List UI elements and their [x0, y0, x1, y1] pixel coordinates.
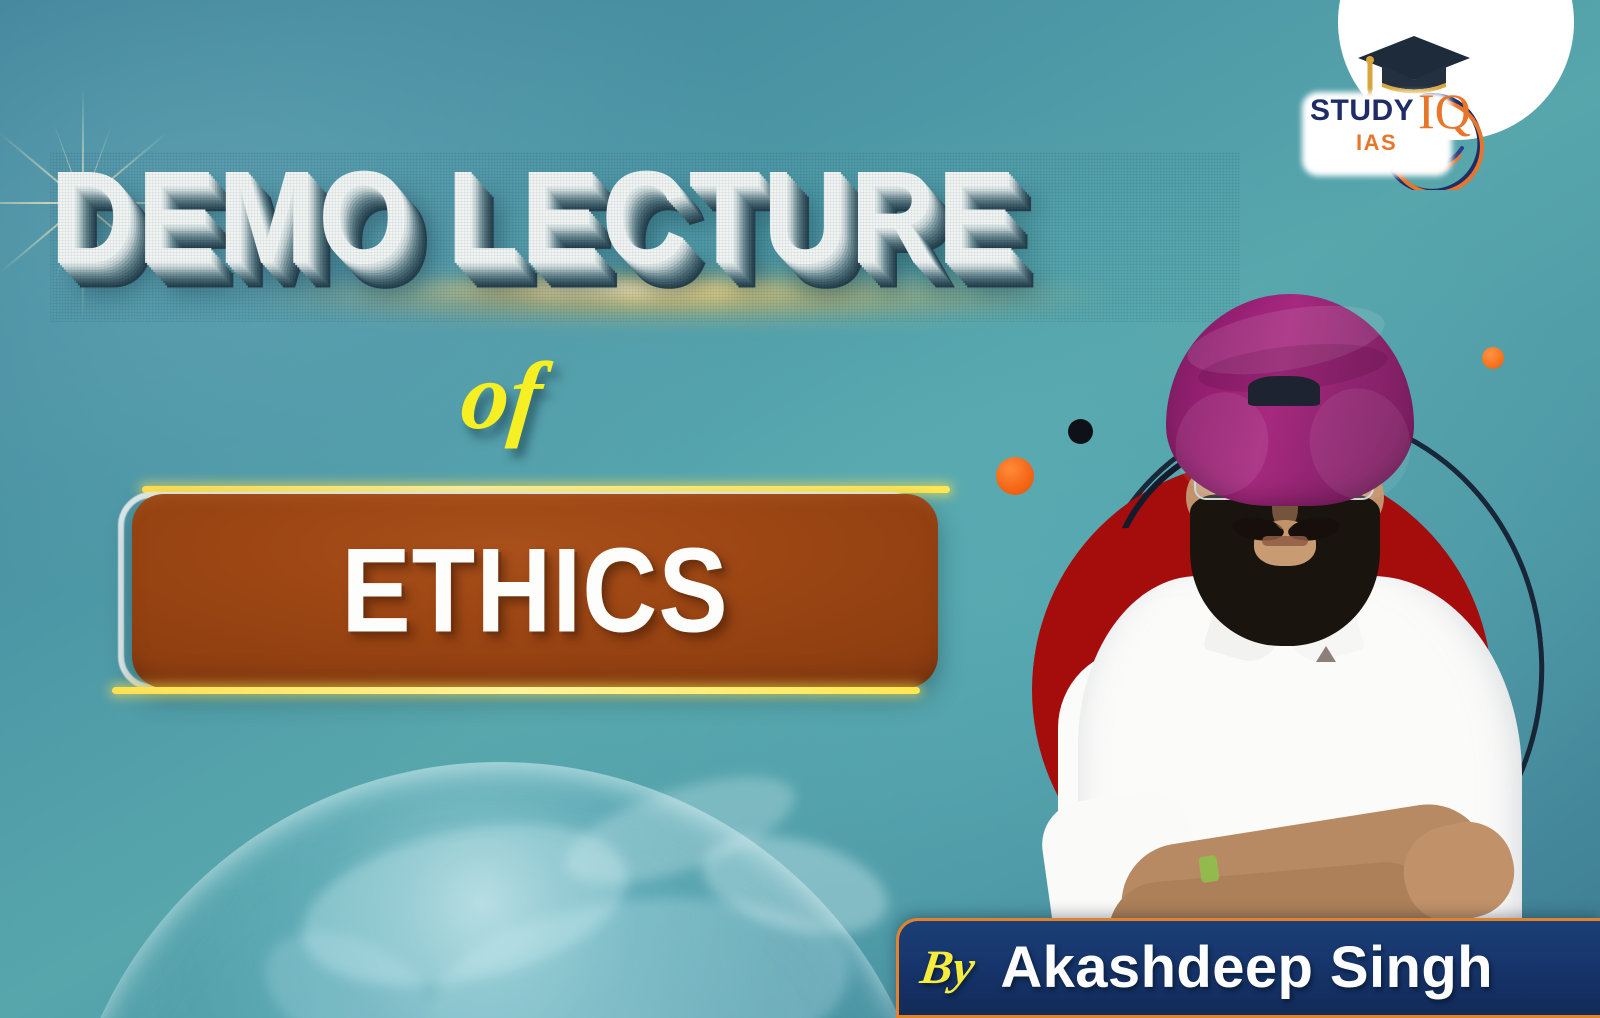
name-plate: By Akashdeep Singh: [896, 918, 1600, 1018]
wrist-band: [1198, 855, 1219, 883]
turban-peak: [1248, 376, 1320, 406]
shirt-emblem: [1316, 646, 1336, 662]
globe-atmosphere-rim: [60, 762, 940, 1018]
logo-iq-text: IQ: [1418, 86, 1471, 136]
presenter-name-banner: By Akashdeep Singh: [896, 912, 1600, 1018]
page-title: DEMO LECTURE: [50, 152, 1240, 284]
subject-banner: ETHICS: [112, 486, 950, 708]
subject-title: ETHICS: [132, 479, 938, 702]
by-label: By: [918, 944, 978, 992]
title-connector: of: [457, 348, 547, 444]
thumbnail-canvas: STUDY IAS IQ DEMO LECTURE of ETHICS: [0, 0, 1600, 1018]
presenter-name: Akashdeep Singh: [1000, 939, 1493, 997]
lips: [1262, 536, 1308, 546]
presenter-photo: [1000, 268, 1540, 958]
banner-accent-line-bottom: [112, 687, 920, 694]
studyiq-logo[interactable]: STUDY IAS IQ: [1310, 34, 1500, 184]
